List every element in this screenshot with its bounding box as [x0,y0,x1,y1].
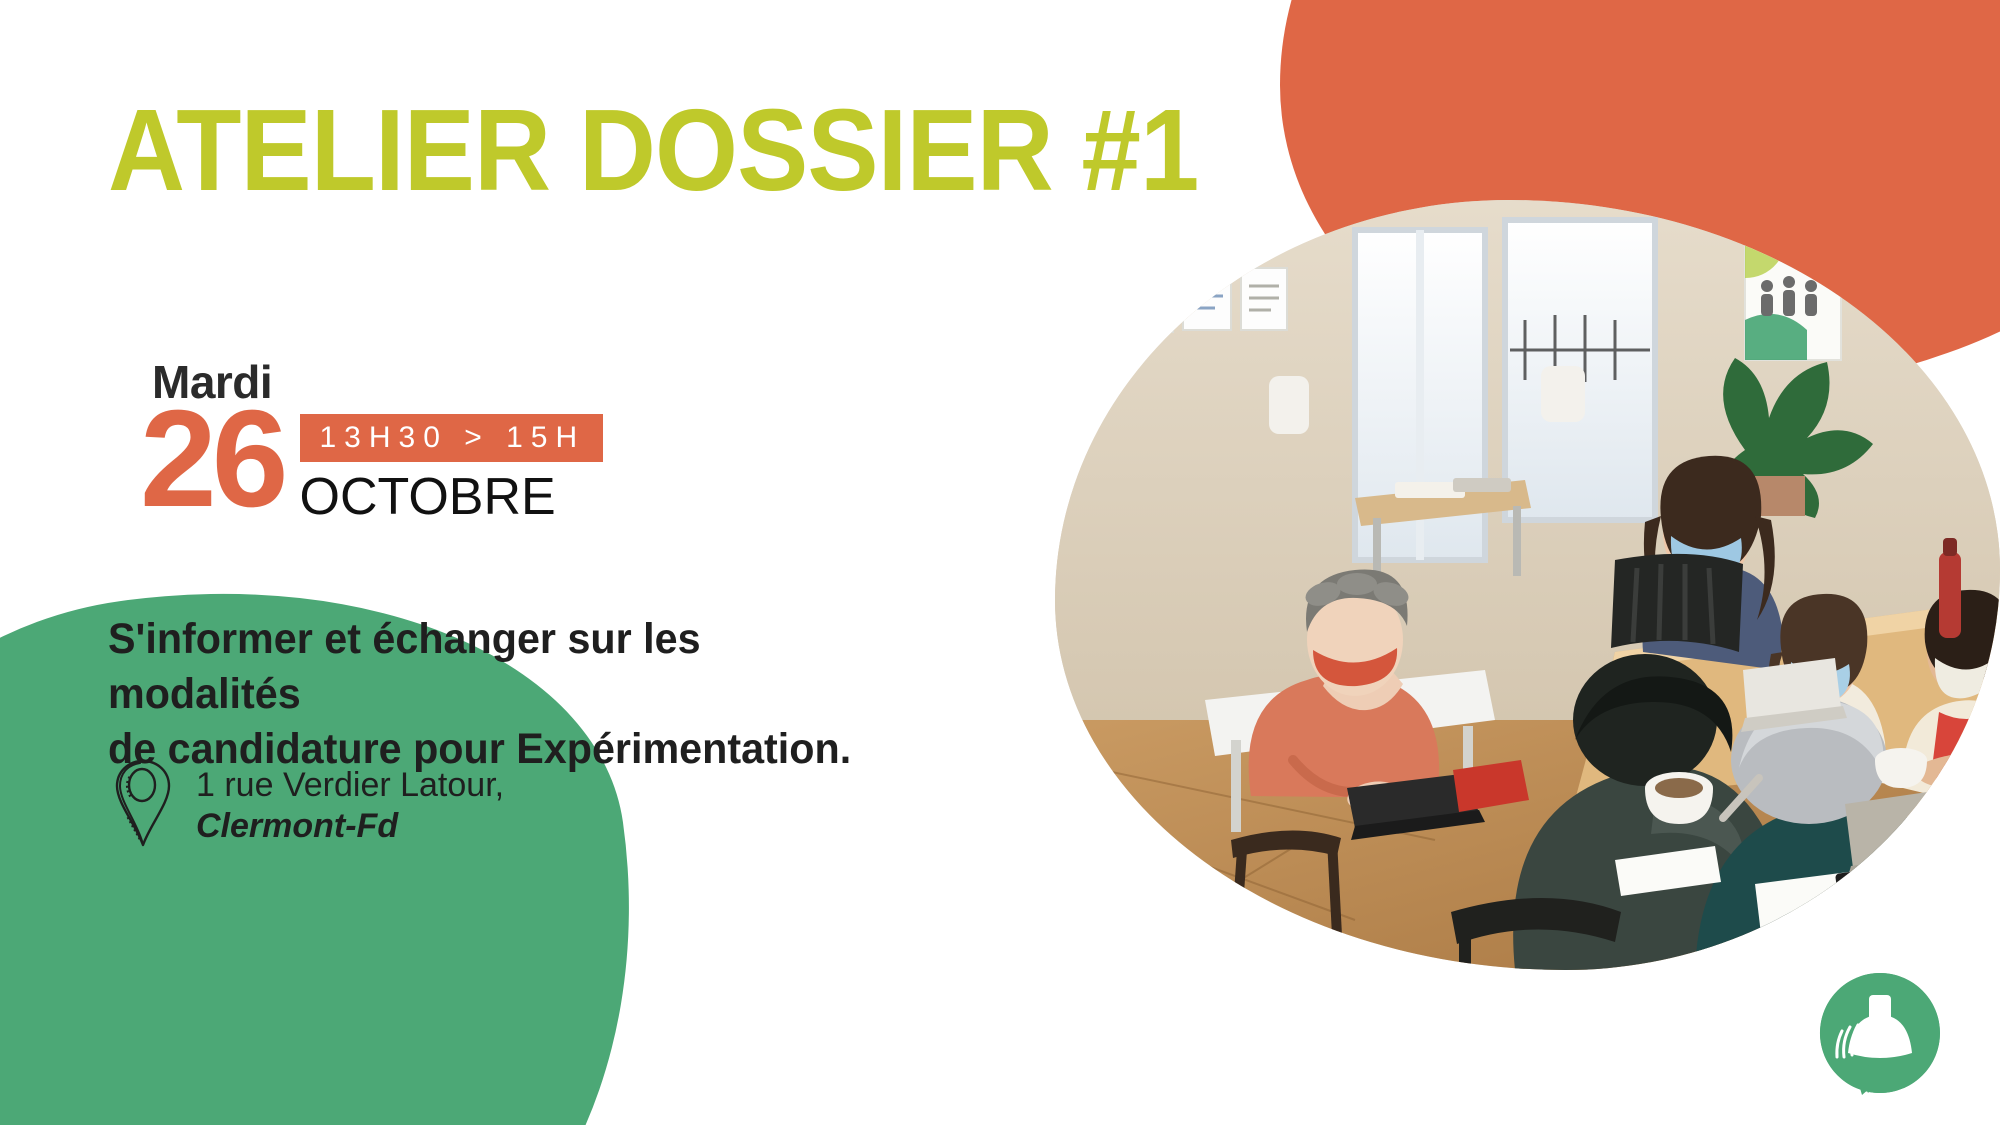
event-description: S'informer et échanger sur les modalités… [108,612,876,777]
event-address: 1 rue Verdier Latour, Clermont-Fd [112,755,504,849]
event-description-line-1: S'informer et échanger sur les modalités [108,612,876,722]
event-month: OCTOBRE [300,470,604,525]
poster-content: ATELIER DOSSIER #1 Mardi 26 13H30 > 15H … [0,0,1060,1125]
event-poster: ATELIER DOSSIER #1 Mardi 26 13H30 > 15H … [0,0,2000,1125]
page-title: ATELIER DOSSIER #1 [108,92,1198,208]
workshop-photo-illustration [1055,200,2000,970]
address-street: 1 rue Verdier Latour, [196,765,504,806]
workshop-photo [1055,200,2000,970]
event-time-badge: 13H30 > 15H [300,414,604,462]
location-pin-icon [112,757,174,849]
address-text: 1 rue Verdier Latour, Clermont-Fd [196,765,504,848]
brand-logo-icon [1816,969,1944,1097]
event-day-number: 26 [140,400,284,519]
event-date-details: 13H30 > 15H OCTOBRE [300,414,604,525]
address-city: Clermont-Fd [196,806,504,847]
event-date-block: 26 13H30 > 15H OCTOBRE [140,400,603,525]
